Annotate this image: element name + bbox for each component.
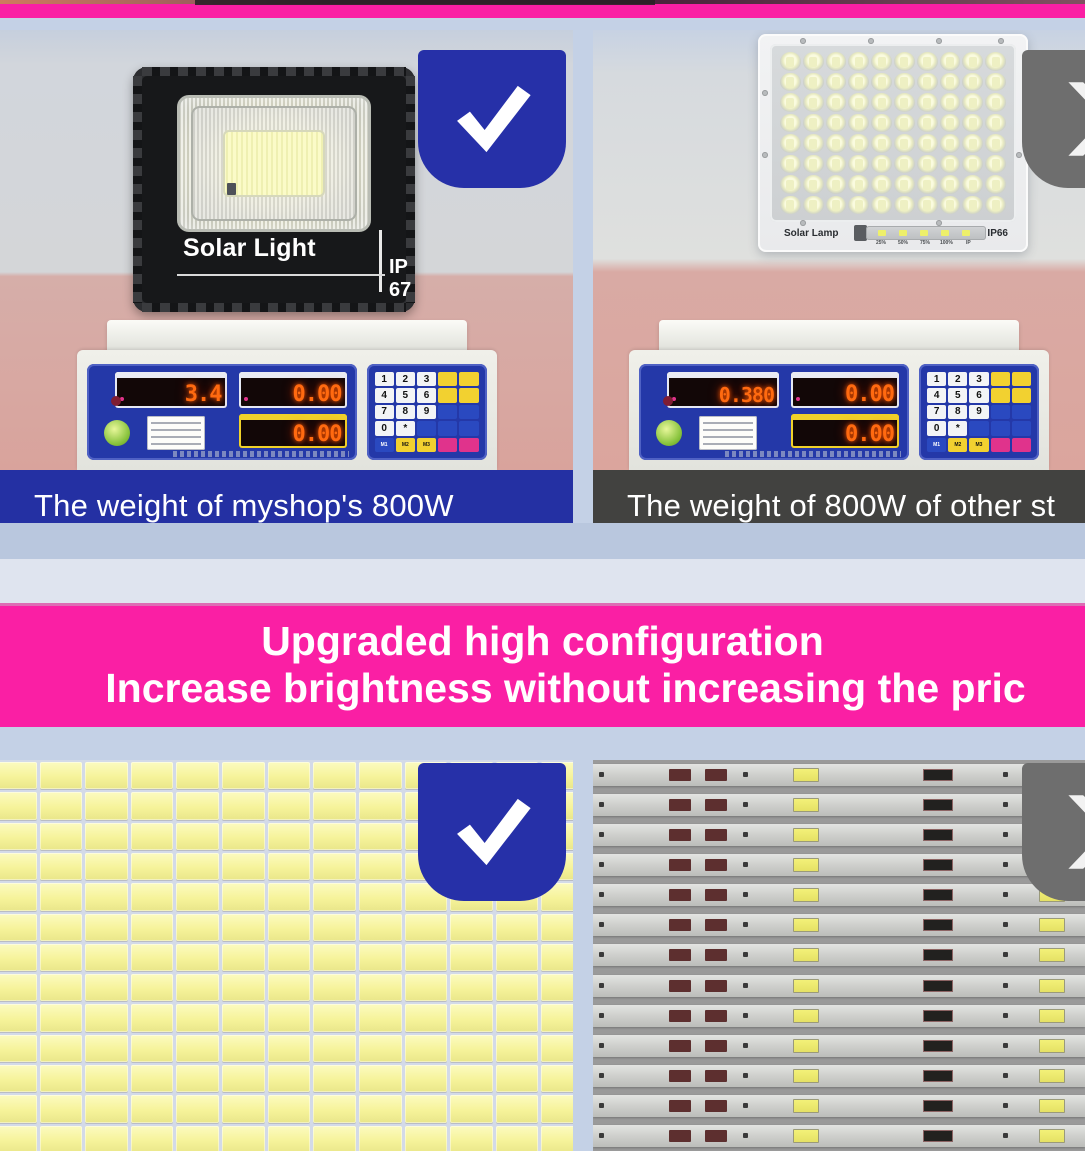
led-chip — [541, 1095, 573, 1122]
led-chip — [268, 1065, 311, 1092]
weighing-scale-left: 3.4 0.00 0.00 — [0, 320, 573, 470]
resistor — [705, 769, 727, 781]
led-chip — [176, 1035, 219, 1062]
led-chip — [313, 853, 356, 880]
key-7[interactable]: 7 — [927, 405, 946, 419]
key-1[interactable]: 1 — [375, 372, 394, 386]
key-3[interactable]: 3 — [417, 372, 436, 386]
key-5[interactable]: 5 — [396, 388, 415, 402]
check-icon — [446, 73, 538, 165]
lamp-faceplate — [770, 44, 1016, 222]
key-6[interactable]: 6 — [417, 388, 436, 402]
display-header-bar — [667, 372, 779, 378]
display-header-bar — [115, 372, 227, 378]
solder-pad — [1003, 983, 1008, 988]
led-chip — [176, 1095, 219, 1122]
weight-comparison-section: Solar Light IP 67 — [0, 18, 1085, 523]
led-chip — [222, 1126, 265, 1151]
key-4[interactable]: 4 — [375, 388, 394, 402]
led-chip — [85, 1095, 128, 1122]
led-chip — [793, 1069, 819, 1083]
led-chip — [131, 914, 174, 941]
led-chip — [85, 1065, 128, 1092]
led-chip — [1039, 1039, 1065, 1053]
led-chip — [222, 792, 265, 819]
key-func-g[interactable] — [417, 421, 436, 435]
led-sensor-dot — [227, 183, 236, 195]
solder-pad — [743, 892, 748, 897]
led-chip — [222, 823, 265, 850]
led-chip — [0, 1095, 37, 1122]
led-chip — [40, 883, 83, 910]
key-m5[interactable] — [1012, 438, 1031, 452]
led-chip — [40, 914, 83, 941]
key-0[interactable]: 0 — [375, 421, 394, 435]
batt-tick: 75% — [920, 240, 930, 246]
led-chip — [131, 1004, 174, 1031]
key-m1[interactable]: M1 — [375, 438, 394, 452]
led-chip — [268, 792, 311, 819]
key-9[interactable]: 9 — [417, 405, 436, 419]
resistor — [669, 859, 691, 871]
key-4[interactable]: 4 — [927, 388, 946, 402]
led-chip — [85, 1004, 128, 1031]
bolt-icon — [762, 152, 768, 158]
led-chip — [359, 944, 402, 971]
led-chip — [405, 1004, 448, 1031]
led-chip — [176, 762, 219, 789]
key-7[interactable]: 7 — [375, 405, 394, 419]
led-chip — [405, 974, 448, 1001]
solder-pad — [743, 802, 748, 807]
lamp-label-rule — [177, 274, 385, 276]
resistor — [669, 919, 691, 931]
unit-price-display: 0.00 — [239, 372, 347, 408]
total-price-display: 0.00 — [239, 414, 347, 448]
led-chip — [268, 883, 311, 910]
led-chip — [268, 762, 311, 789]
led-chip — [176, 914, 219, 941]
led-chip — [0, 1065, 37, 1092]
led-chip — [313, 1126, 356, 1151]
key-func-f[interactable] — [459, 405, 478, 419]
rejected-badge-weight — [1022, 50, 1085, 188]
key-func-c[interactable] — [991, 388, 1010, 402]
resistor — [669, 1010, 691, 1022]
display-header-bar — [791, 372, 899, 378]
led-chip — [541, 1065, 573, 1092]
display-header-bar — [791, 414, 899, 420]
key-8[interactable]: 8 — [948, 405, 967, 419]
scale-keypad[interactable]: 1 2 3 4 5 6 7 — [927, 372, 1031, 452]
led-chip — [176, 853, 219, 880]
display-indicator-dot — [244, 397, 248, 401]
led-chip — [793, 918, 819, 932]
unit-price-value: 0.00 — [293, 382, 342, 407]
resistor — [669, 1130, 691, 1142]
weight-display: 0.380 — [667, 372, 779, 408]
led-chip — [359, 1035, 402, 1062]
led-chip — [0, 1035, 37, 1062]
display-indicator-dot — [796, 397, 800, 401]
resistor — [669, 1070, 691, 1082]
led-chip — [313, 1035, 356, 1062]
key-3[interactable]: 3 — [969, 372, 988, 386]
solder-pad — [599, 1103, 604, 1108]
led-chip — [793, 858, 819, 872]
bolt-icon — [1016, 152, 1022, 158]
led-chip — [313, 1095, 356, 1122]
solder-pad — [743, 952, 748, 957]
total-price-value: 0.00 — [293, 422, 342, 447]
key-8[interactable]: 8 — [396, 405, 415, 419]
led-density-comparison-section — [0, 760, 1085, 1151]
led-strip — [593, 1095, 1085, 1117]
resistor — [669, 769, 691, 781]
key-m1[interactable]: M1 — [927, 438, 946, 452]
key-5[interactable]: 5 — [948, 388, 967, 402]
resistor — [705, 949, 727, 961]
key-2[interactable]: 2 — [948, 372, 967, 386]
key-m3[interactable]: M3 — [417, 438, 436, 452]
led-chip — [131, 1065, 174, 1092]
resistor — [705, 859, 727, 871]
led-chip — [313, 914, 356, 941]
solder-pad — [599, 862, 604, 867]
resistor — [669, 889, 691, 901]
solder-pad — [599, 1013, 604, 1018]
key-func-h[interactable] — [991, 421, 1010, 435]
led-chip — [541, 1004, 573, 1031]
led-chip-core — [223, 130, 325, 197]
led-chip — [222, 1065, 265, 1092]
key-func-i[interactable] — [1012, 421, 1031, 435]
key-m2[interactable]: M2 — [948, 438, 967, 452]
solder-pad — [743, 1013, 748, 1018]
led-chip — [0, 762, 37, 789]
led-chip — [40, 1035, 83, 1062]
scale-body: 0.380 0.00 0.00 — [629, 350, 1049, 470]
led-chip — [405, 914, 448, 941]
cross-icon — [1050, 786, 1085, 878]
led-chip — [405, 1095, 448, 1122]
solder-pad — [1003, 1013, 1008, 1018]
led-chip — [313, 823, 356, 850]
led-strip — [593, 884, 1085, 906]
led-chip — [131, 1126, 174, 1151]
led-chip — [541, 974, 573, 1001]
led-strip — [593, 1035, 1085, 1057]
led-chip — [313, 1065, 356, 1092]
scale-status-led — [656, 420, 682, 446]
solder-pad — [1003, 1103, 1008, 1108]
driver-ic — [923, 1130, 953, 1142]
led-chip — [268, 1095, 311, 1122]
led-chip — [40, 762, 83, 789]
approved-badge-led — [418, 763, 566, 901]
sticker-line — [151, 436, 201, 438]
solder-pad — [743, 1103, 748, 1108]
led-chip — [40, 1126, 83, 1151]
resistor — [705, 799, 727, 811]
solder-pad — [599, 1073, 604, 1078]
solder-pad — [599, 952, 604, 957]
key-m2[interactable]: M2 — [396, 438, 415, 452]
led-chip — [85, 792, 128, 819]
led-chip — [85, 883, 128, 910]
led-chip — [0, 792, 37, 819]
led-chip — [40, 1095, 83, 1122]
led-strip — [593, 1065, 1085, 1087]
led-chip — [85, 914, 128, 941]
led-chip — [793, 888, 819, 902]
key-2[interactable]: 2 — [396, 372, 415, 386]
batt-tick: 25% — [876, 240, 886, 246]
led-chip — [176, 974, 219, 1001]
led-chip — [359, 974, 402, 1001]
driver-ic — [923, 980, 953, 992]
led-chip — [85, 1126, 128, 1151]
led-chip — [793, 1039, 819, 1053]
solder-pad — [599, 892, 604, 897]
led-chip — [222, 853, 265, 880]
led-chip — [222, 914, 265, 941]
led-chip — [359, 914, 402, 941]
led-chip — [359, 762, 402, 789]
led-chip — [450, 1004, 493, 1031]
led-chip — [450, 1095, 493, 1122]
led-chip — [176, 1004, 219, 1031]
led-chip — [131, 883, 174, 910]
led-chip — [222, 1035, 265, 1062]
scale-control-panel: 0.380 0.00 0.00 — [639, 364, 1039, 460]
led-strip — [593, 854, 1085, 876]
scale-display-board: 0.380 0.00 0.00 — [639, 364, 909, 460]
led-chip — [268, 974, 311, 1001]
housing-fin-left — [133, 76, 142, 303]
led-chip — [450, 914, 493, 941]
driver-ic — [923, 889, 953, 901]
driver-ic — [923, 949, 953, 961]
key-9[interactable]: 9 — [969, 405, 988, 419]
key-func-h[interactable] — [438, 421, 457, 435]
led-chip — [85, 823, 128, 850]
driver-ic — [923, 799, 953, 811]
resistor — [705, 919, 727, 931]
led-chip — [1039, 1009, 1065, 1023]
led-chip — [176, 883, 219, 910]
caption-text-ours: The weight of myshop's 800W — [0, 488, 454, 524]
led-chip — [793, 768, 819, 782]
key-func-e[interactable] — [438, 405, 457, 419]
solder-pad — [599, 983, 604, 988]
led-chip — [40, 1065, 83, 1092]
bolt-icon — [936, 38, 942, 44]
driver-ic — [923, 859, 953, 871]
key-func-c[interactable] — [438, 388, 457, 402]
led-chip — [496, 1035, 539, 1062]
led-chip — [450, 1126, 493, 1151]
product-photo-right: Solar Lamp IP66 25% 50% 75% 100% IP — [593, 30, 1085, 470]
led-chip — [176, 1065, 219, 1092]
led-chip — [176, 823, 219, 850]
driver-ic — [923, 919, 953, 931]
key-6[interactable]: 6 — [969, 388, 988, 402]
led-chip — [85, 1035, 128, 1062]
led-chip — [359, 883, 402, 910]
led-chip — [40, 792, 83, 819]
led-chip — [359, 792, 402, 819]
competitor-solar-lamp: Solar Lamp IP66 25% 50% 75% 100% IP — [758, 34, 1028, 252]
led-chip — [268, 1035, 311, 1062]
solder-pad — [1003, 802, 1008, 807]
batt-tick: 50% — [898, 240, 908, 246]
panel-divider — [573, 760, 593, 1151]
led-chip — [222, 944, 265, 971]
weight-value: 0.380 — [719, 383, 774, 407]
promo-banner: Upgraded high configuration Increase bri… — [0, 603, 1085, 727]
driver-ic — [923, 1010, 953, 1022]
led-chip — [1039, 918, 1065, 932]
led-chip — [405, 1035, 448, 1062]
led-chip — [793, 1009, 819, 1023]
key-func-d[interactable] — [1012, 388, 1031, 402]
led-strip — [593, 975, 1085, 997]
solder-pad — [743, 922, 748, 927]
rejected-badge-led — [1022, 763, 1085, 901]
resistor — [705, 1070, 727, 1082]
key-func-f[interactable] — [1012, 405, 1031, 419]
key-func-b[interactable] — [1012, 372, 1031, 386]
key-func-e[interactable] — [991, 405, 1010, 419]
banner-subheadline: Increase brightness without increasing t… — [0, 667, 1085, 710]
batt-tick: IP — [966, 240, 971, 246]
led-chip — [793, 1099, 819, 1113]
bolt-icon — [800, 38, 806, 44]
solder-pad — [599, 1043, 604, 1048]
scale-keypad-board[interactable]: 1 2 3 4 5 6 7 — [919, 364, 1039, 460]
led-chip — [131, 823, 174, 850]
led-chip — [793, 979, 819, 993]
led-chip — [40, 974, 83, 1001]
power-indicator — [111, 396, 121, 406]
led-chip — [1039, 1099, 1065, 1113]
led-chip — [268, 853, 311, 880]
battery-tick-labels: 25% 50% 75% 100% IP — [866, 240, 986, 248]
key-dot[interactable]: * — [396, 421, 415, 435]
led-chip — [313, 792, 356, 819]
sticker-line — [703, 436, 753, 438]
solder-pad — [743, 772, 748, 777]
key-func-b[interactable] — [459, 372, 478, 386]
sparse-led-strip-array — [593, 760, 1085, 1151]
resistor — [669, 949, 691, 961]
driver-ic — [923, 1040, 953, 1052]
led-chip — [450, 974, 493, 1001]
led-chip — [0, 974, 37, 1001]
scale-keypad[interactable]: 1 2 3 4 5 6 7 — [375, 372, 479, 452]
key-func-a[interactable] — [991, 372, 1010, 386]
key-m5[interactable] — [459, 438, 478, 452]
scale-model-sticker — [699, 416, 757, 450]
led-chip — [496, 944, 539, 971]
led-chip — [359, 1126, 402, 1151]
key-dot[interactable]: * — [948, 421, 967, 435]
competitor-brand-text: Solar Lamp — [784, 228, 838, 239]
display-header-bar — [239, 414, 347, 420]
solder-pad — [743, 1043, 748, 1048]
resistor — [705, 1040, 727, 1052]
sticker-line — [151, 422, 201, 424]
led-chip — [131, 853, 174, 880]
caption-text-others: The weight of 800W of other st — [593, 488, 1055, 524]
lamp-footer-labels: Solar Lamp IP66 25% 50% 75% 100% IP — [758, 224, 1028, 246]
led-chip — [405, 944, 448, 971]
key-m3[interactable]: M3 — [969, 438, 988, 452]
sticker-line — [703, 429, 753, 431]
led-chip — [313, 883, 356, 910]
weight-display: 3.4 — [115, 372, 227, 408]
check-icon — [446, 786, 538, 878]
driver-ic — [923, 1070, 953, 1082]
resistor — [705, 980, 727, 992]
led-chip — [496, 914, 539, 941]
led-chip — [359, 1095, 402, 1122]
product-detail-page: Solar Light IP 67 — [0, 0, 1085, 1151]
key-func-g[interactable] — [969, 421, 988, 435]
led-strip — [593, 914, 1085, 936]
led-chip — [268, 944, 311, 971]
scale-control-panel: 3.4 0.00 0.00 — [87, 364, 487, 460]
led-chip — [85, 944, 128, 971]
driver-ic — [923, 769, 953, 781]
led-reflector — [177, 95, 371, 232]
key-m4[interactable] — [438, 438, 457, 452]
resistor — [669, 799, 691, 811]
led-chip — [450, 1065, 493, 1092]
solder-pad — [1003, 1073, 1008, 1078]
led-chip — [496, 1095, 539, 1122]
solder-pad — [599, 832, 604, 837]
key-1[interactable]: 1 — [927, 372, 946, 386]
solder-pad — [599, 802, 604, 807]
key-func-d[interactable] — [459, 388, 478, 402]
solder-pad — [1003, 832, 1008, 837]
led-chip — [496, 1126, 539, 1151]
key-m4[interactable] — [991, 438, 1010, 452]
led-chip — [496, 1065, 539, 1092]
key-func-i[interactable] — [459, 421, 478, 435]
led-chip — [541, 1035, 573, 1062]
led-chip — [0, 1004, 37, 1031]
led-chip — [40, 853, 83, 880]
key-func-a[interactable] — [438, 372, 457, 386]
led-chip — [1039, 948, 1065, 962]
led-chip — [313, 944, 356, 971]
led-chip — [313, 762, 356, 789]
solder-pad — [743, 1133, 748, 1138]
solder-pad — [1003, 772, 1008, 777]
led-chip — [313, 974, 356, 1001]
led-chip — [268, 1004, 311, 1031]
scale-keypad-board[interactable]: 1 2 3 4 5 6 7 — [367, 364, 487, 460]
separator-band-below-banner — [0, 727, 1085, 760]
led-chip — [85, 974, 128, 1001]
sticker-line — [703, 422, 753, 424]
scale-display-board: 3.4 0.00 0.00 — [87, 364, 357, 460]
key-0[interactable]: 0 — [927, 421, 946, 435]
led-chip — [793, 948, 819, 962]
